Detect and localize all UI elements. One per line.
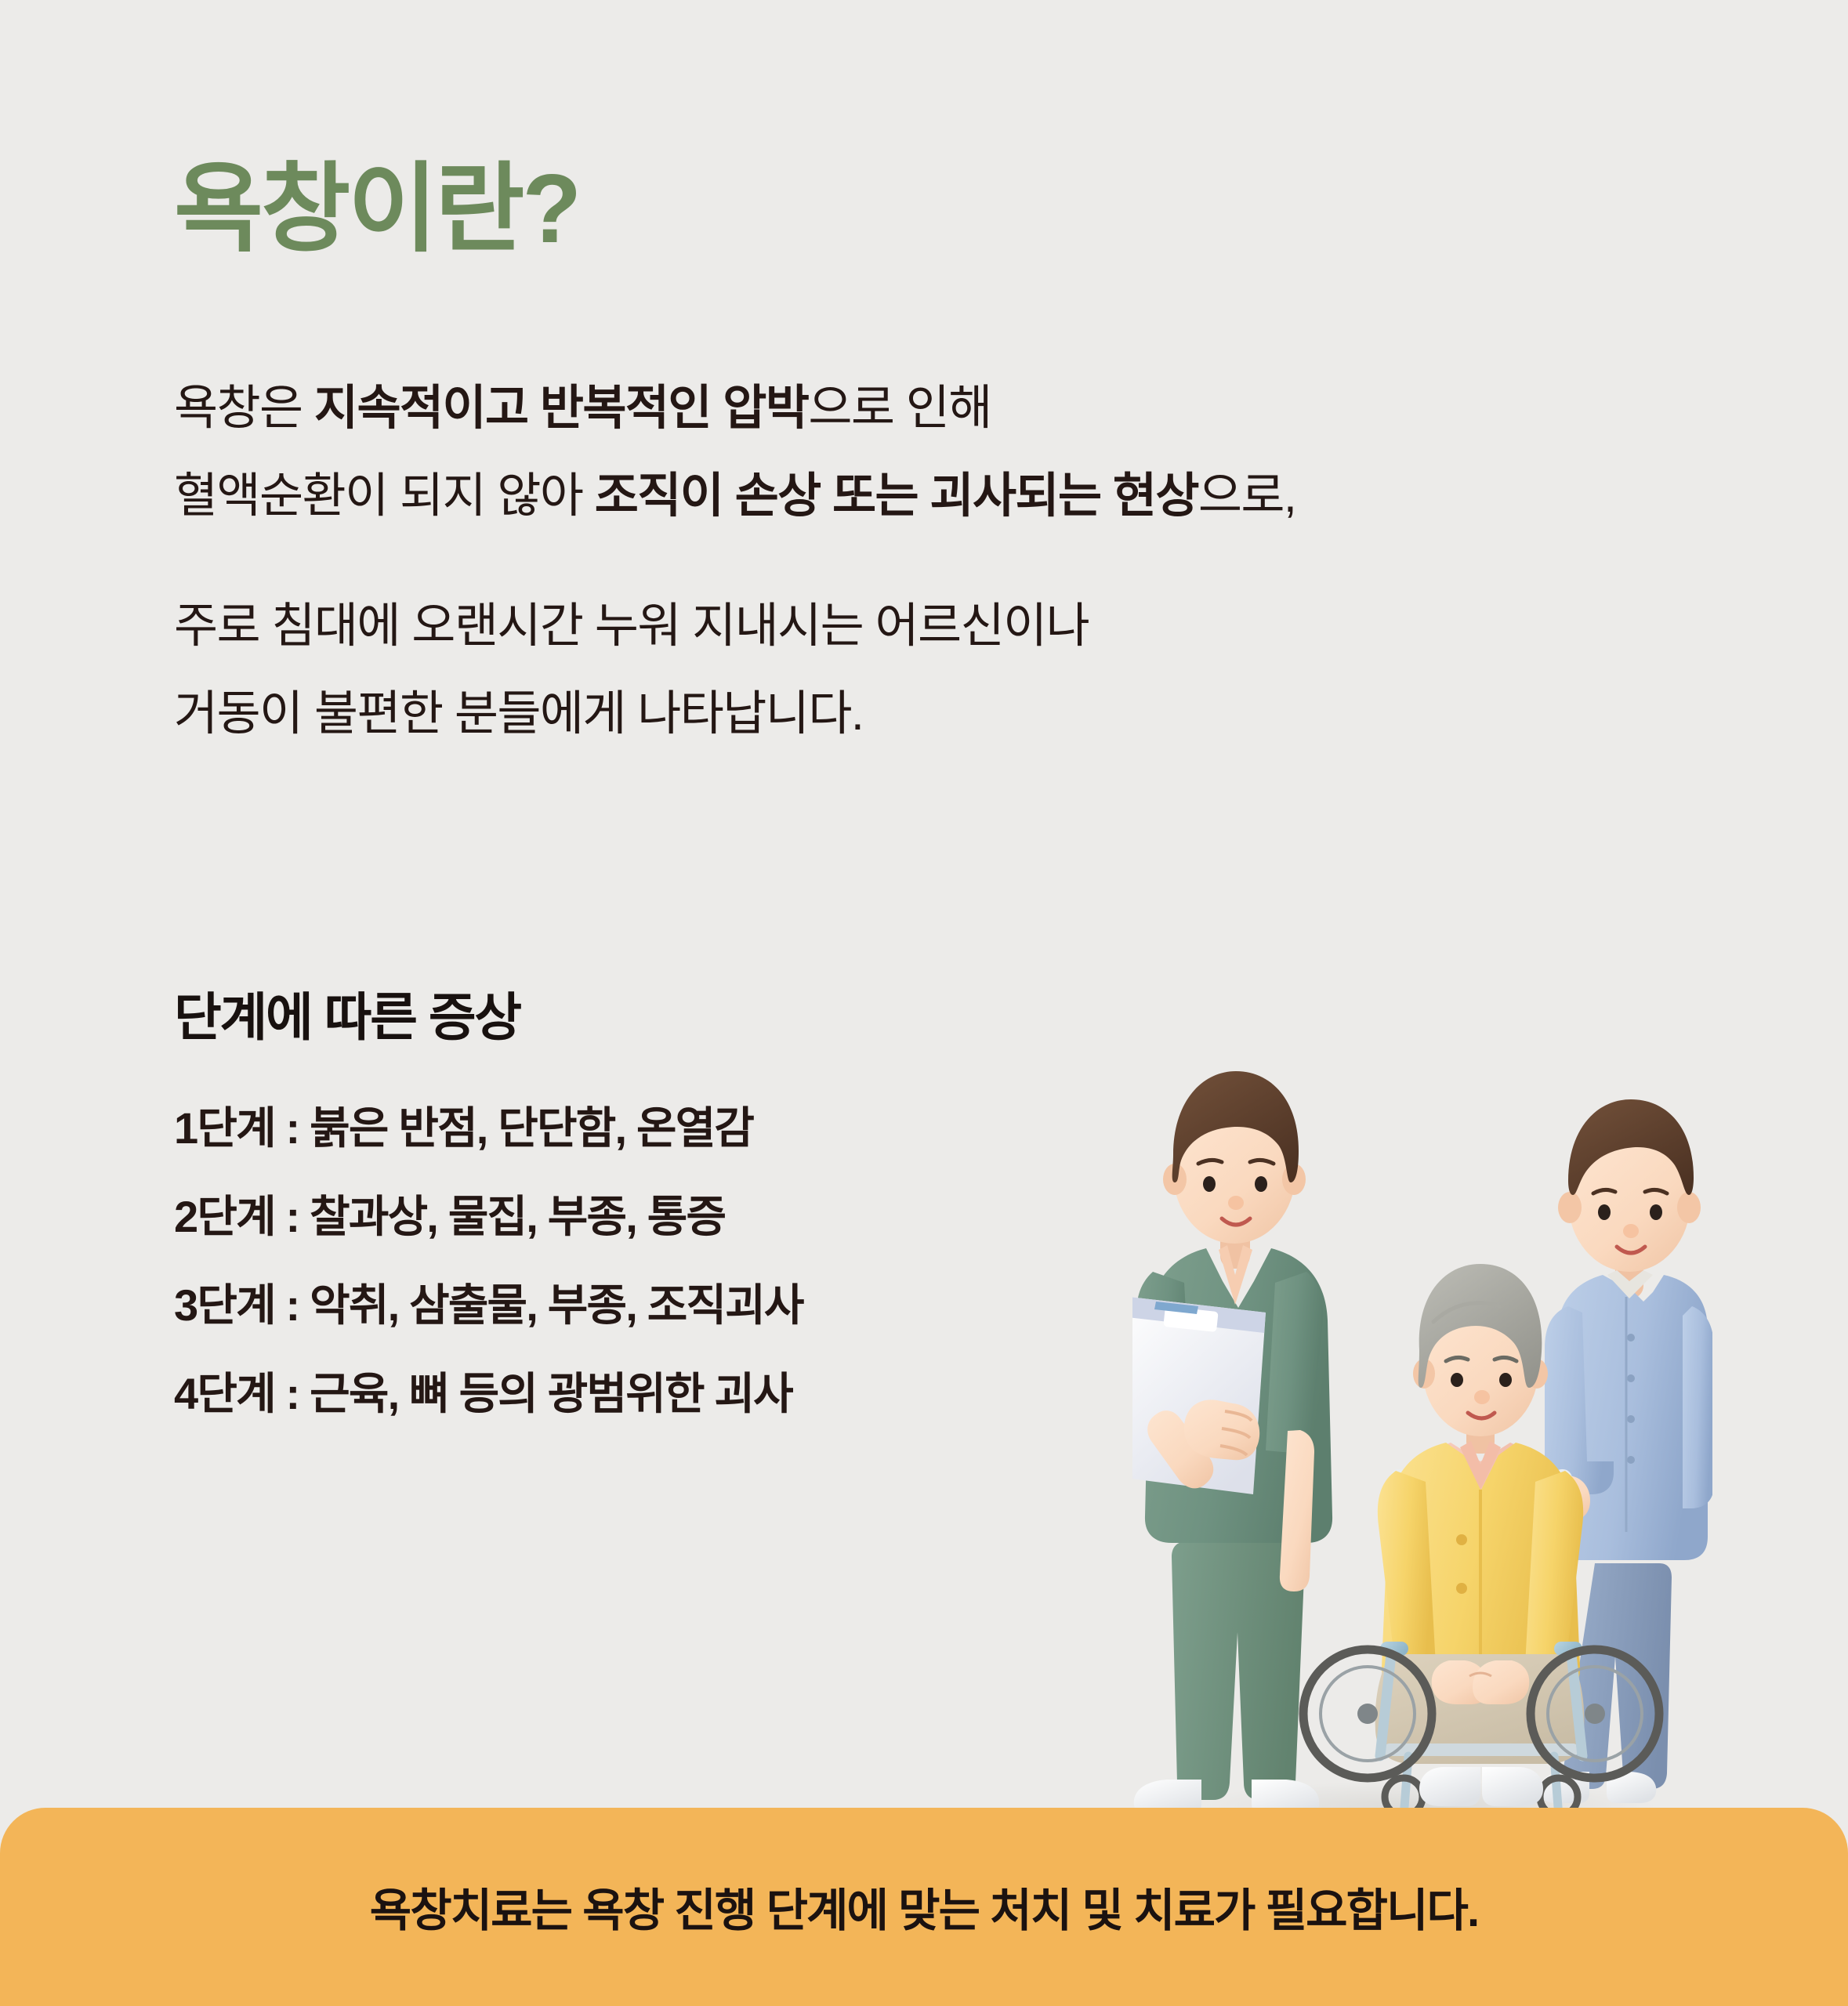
banner-message: 욕창치료는 욕창 진행 단계에 맞는 처치 및 치료가 필요합니다. — [0, 1874, 1848, 1939]
intro-line: 거동이 불편한 분들에게 나타납니다. — [174, 690, 1089, 737]
intro-paragraph-2: 주로 침대에 오랜시간 누워 지내시는 어르신이나 거동이 불편한 분들에게 나… — [174, 602, 1089, 737]
intro-text-plain: 거동이 불편한 분들에게 나타납니다. — [174, 686, 863, 740]
page-title: 욕창이란? — [174, 154, 579, 266]
man-eye-right — [1650, 1204, 1662, 1220]
woman-hand-right — [1473, 1660, 1529, 1704]
intro-line: 혈액순환이 되지 않아 조직이 손상 또는 괴사되는 현상으로, — [174, 472, 1295, 520]
woman-nose — [1474, 1390, 1490, 1404]
man-ear-right — [1677, 1192, 1701, 1223]
man-nose — [1623, 1224, 1639, 1238]
list-item: 1단계 : 붉은 반점, 단단함, 온열감 — [174, 1106, 803, 1150]
list-item: 2단계 : 찰과상, 물집, 부종, 통증 — [174, 1195, 803, 1239]
bottom-callout-banner: 욕창치료는 욕창 진행 단계에 맞는 처치 및 치료가 필요합니다. — [0, 1808, 1848, 2006]
caregiving-illustration — [1132, 1062, 1712, 1845]
infographic-page: 욕창이란? 욕창은 지속적이고 반복적인 압박으로 인해 혈액순환이 되지 않아… — [0, 0, 1848, 2006]
man-eye-left — [1598, 1204, 1611, 1220]
intro-text-plain: 으로, — [1198, 469, 1295, 522]
illustration-svg — [1132, 1062, 1712, 1845]
intro-text-bold: 지속적이고 반복적인 압박 — [314, 381, 808, 434]
woman-eye-left — [1451, 1373, 1463, 1387]
man-right-arm — [1683, 1306, 1712, 1508]
intro-line: 욕창은 지속적이고 반복적인 압박으로 인해 — [174, 384, 1295, 432]
woman-shoe-left — [1419, 1767, 1480, 1806]
intro-text-plain: 주로 침대에 오랜시간 누워 지내시는 어르신이나 — [174, 599, 1089, 652]
nurse-nose — [1228, 1196, 1244, 1210]
stage-symptom-list: 1단계 : 붉은 반점, 단단함, 온열감 2단계 : 찰과상, 물집, 부종,… — [174, 1106, 803, 1416]
intro-text-plain: 으로 인해 — [808, 381, 991, 434]
woman-eye-right — [1499, 1373, 1512, 1387]
intro-paragraph-1: 욕창은 지속적이고 반복적인 압박으로 인해 혈액순환이 되지 않아 조직이 손… — [174, 384, 1295, 520]
man-ear-left — [1558, 1192, 1582, 1223]
banner-text-plain: 욕창치료는 — [370, 1885, 583, 1936]
intro-text-plain: 욕창은 — [174, 381, 314, 434]
list-item: 4단계 : 근육, 뼈 등의 광범위한 괴사 — [174, 1372, 803, 1416]
nurse-eye-left — [1203, 1176, 1216, 1192]
intro-text-bold: 조직이 손상 또는 괴사되는 현상 — [595, 469, 1198, 522]
intro-line: 주로 침대에 오랜시간 누워 지내시는 어르신이나 — [174, 602, 1089, 650]
nurse-eye-right — [1255, 1176, 1267, 1192]
banner-text-bold: 욕창 진행 단계에 맞는 처치 및 치료가 필요합니다. — [582, 1885, 1478, 1936]
intro-text-plain: 혈액순환이 되지 않아 — [174, 469, 595, 522]
stages-section-heading: 단계에 따른 증상 — [174, 976, 520, 1051]
list-item: 3단계 : 악취, 삼출물, 부종, 조직괴사 — [174, 1284, 803, 1327]
woman-shoe-right — [1482, 1767, 1543, 1806]
